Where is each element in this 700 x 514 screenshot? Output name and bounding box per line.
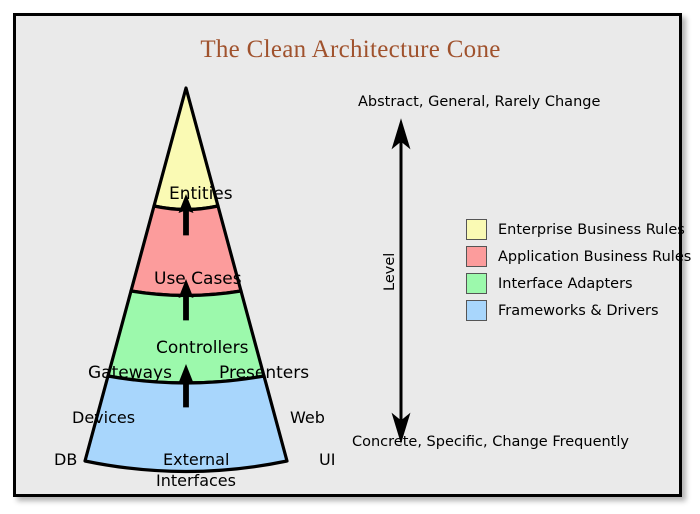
axis-top-label: Abstract, General, Rarely Change <box>358 94 600 110</box>
legend-item-interface-adapters: Interface Adapters <box>466 270 691 297</box>
legend-label-enterprise-business-rules: Enterprise Business Rules <box>498 222 685 238</box>
legend: Enterprise Business Rules Application Bu… <box>466 216 691 324</box>
legend-swatch-frameworks-and-drivers <box>466 300 487 321</box>
cone-label-entities: Entities <box>169 184 233 204</box>
axis-bottom-label: Concrete, Specific, Change Frequently <box>352 434 629 450</box>
dependency-arrow-3 <box>178 364 193 407</box>
legend-label-application-business-rules: Application Business Rules <box>498 249 691 265</box>
legend-label-interface-adapters: Interface Adapters <box>498 276 633 292</box>
legend-item-frameworks-and-drivers: Frameworks & Drivers <box>466 297 691 324</box>
legend-item-enterprise-business-rules: Enterprise Business Rules <box>466 216 691 243</box>
legend-swatch-enterprise-business-rules <box>466 219 487 240</box>
level-arrow-head-up <box>393 120 410 148</box>
cone-label-db: DB <box>54 450 77 469</box>
page-title: The Clean Architecture Cone <box>16 36 685 64</box>
cone-label-external: External <box>163 450 229 469</box>
diagram-panel: The Clean Architecture Cone <box>13 13 682 497</box>
legend-swatch-interface-adapters <box>466 273 487 294</box>
cone-label-gateways: Gateways <box>88 363 172 383</box>
cone-label-ui: UI <box>319 450 335 469</box>
legend-label-frameworks-and-drivers: Frameworks & Drivers <box>498 303 659 319</box>
axis-level-label: Level <box>382 253 398 291</box>
legend-item-application-business-rules: Application Business Rules <box>466 243 691 270</box>
cone-label-presenters: Presenters <box>219 363 309 383</box>
diagram-canvas: The Clean Architecture Cone <box>0 0 700 514</box>
cone-label-use-cases: Use Cases <box>154 269 242 289</box>
dependency-arrows <box>178 194 193 407</box>
cone-label-devices: Devices <box>72 408 135 427</box>
cone-label-controllers: Controllers <box>156 338 248 358</box>
cone-label-interfaces: Interfaces <box>156 471 236 490</box>
legend-swatch-application-business-rules <box>466 246 487 267</box>
cone-label-web: Web <box>290 408 325 427</box>
